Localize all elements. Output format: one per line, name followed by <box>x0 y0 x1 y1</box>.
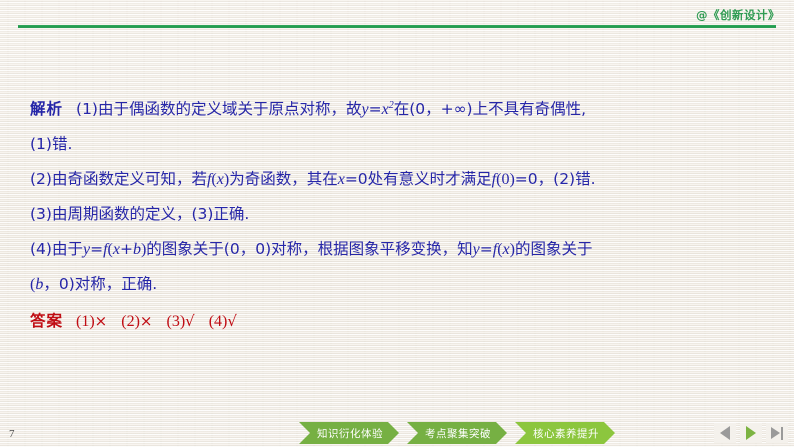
analysis-line-3-text: (2)由奇函数定义可知，若f(x)为奇函数，其在x=0处有意义时才满足f(0)=… <box>30 170 596 188</box>
text-segment: y <box>83 241 90 258</box>
answer-4-mark: √ <box>227 312 237 330</box>
text-segment: 在(0， <box>394 100 441 118</box>
text-segment: (0) <box>496 171 515 188</box>
end-bar-icon <box>781 427 783 440</box>
text-segment: 的图象关于(0，0)对称，根据图象平移变换，知 <box>146 240 472 258</box>
text-segment: =0， <box>515 170 553 188</box>
text-segment: =0处有意义时才满足 <box>345 170 492 188</box>
analysis-line-6-text: (b，0)对称，正确. <box>30 275 157 293</box>
analysis-line-5: (4)由于y=f(x+b)的图象关于(0，0)对称，根据图象平移变换，知y=f(… <box>30 232 770 267</box>
header-divider <box>18 25 776 28</box>
slide-canvas: @《创新设计》 解析(1)由于偶函数的定义域关于原点对称，故y=x2在(0，+∞… <box>0 0 794 447</box>
answer-1: (1)× <box>76 304 107 339</box>
page-number: 7 <box>9 428 15 440</box>
navigation-controls <box>714 423 788 443</box>
answer-block: 答案(1)×(2)×(3)√(4)√ <box>30 304 770 339</box>
answer-1-mark: × <box>95 312 108 330</box>
brand-watermark: @《创新设计》 <box>696 7 780 23</box>
nav-next-button[interactable] <box>740 423 762 443</box>
answer-3-index: (3) <box>166 313 185 330</box>
text-segment: (3)由周期函数的定义，(3)正确. <box>30 205 249 223</box>
banner-keypoints-label: 考点聚集突破 <box>425 426 491 441</box>
text-segment: = <box>90 240 103 258</box>
text-segment: (4)由于 <box>30 240 83 258</box>
nav-last-button[interactable] <box>766 423 788 443</box>
analysis-line-4: (3)由周期函数的定义，(3)正确. <box>30 197 770 232</box>
analysis-line-2-text: (1)错. <box>30 135 72 153</box>
text-segment: ，0) <box>43 275 74 293</box>
text-segment: +∞)上不具有奇偶性, <box>441 100 586 118</box>
text-segment: = <box>369 100 382 118</box>
analysis-line-1-text: (1)由于偶函数的定义域关于原点对称，故y=x2在(0，+∞)上不具有奇偶性, <box>76 100 586 118</box>
text-segment: 的图象关于 <box>515 240 593 258</box>
text-segment: x <box>113 241 120 258</box>
banner-knowledge-label: 知识衍化体验 <box>317 426 383 441</box>
answer-2-mark: × <box>140 312 153 330</box>
text-segment: (1)由于偶函数的定义域关于原点对称，故 <box>76 100 361 118</box>
text-segment: y <box>473 241 480 258</box>
answer-2: (2)× <box>121 304 152 339</box>
answer-3: (3)√ <box>166 304 194 339</box>
analysis-line-4-text: (3)由周期函数的定义，(3)正确. <box>30 205 249 223</box>
banner-literacy[interactable]: 核心素养提升 <box>515 422 615 444</box>
analysis-line-2: (1)错. <box>30 127 770 162</box>
answer-4: (4)√ <box>209 304 237 339</box>
analysis-line-6: (b，0)对称，正确. <box>30 267 770 302</box>
text-segment: 对称，正确. <box>75 275 157 293</box>
text-segment: x <box>338 171 345 188</box>
text-segment: x <box>503 241 510 258</box>
banner-knowledge[interactable]: 知识衍化体验 <box>299 422 399 444</box>
text-segment: (2)由奇函数定义可知，若 <box>30 170 207 188</box>
answer-items: (1)×(2)×(3)√(4)√ <box>76 312 251 330</box>
text-segment: (1)错. <box>30 135 72 153</box>
answer-4-index: (4) <box>209 313 228 330</box>
analysis-line-1: 解析(1)由于偶函数的定义域关于原点对称，故y=x2在(0，+∞)上不具有奇偶性… <box>30 92 770 127</box>
slide-footer: 7 知识衍化体验 考点聚集突破 核心素养提升 <box>0 413 794 447</box>
banner-keypoints[interactable]: 考点聚集突破 <box>407 422 507 444</box>
triangle-right-icon <box>746 426 756 440</box>
answer-label: 答案 <box>30 312 63 330</box>
section-banners: 知识衍化体验 考点聚集突破 核心素养提升 <box>299 422 615 444</box>
nav-previous-button[interactable] <box>714 423 736 443</box>
text-segment: x <box>382 101 389 118</box>
analysis-label: 解析 <box>30 100 63 118</box>
text-segment: b <box>133 241 141 258</box>
answer-3-mark: √ <box>185 312 195 330</box>
text-segment: + <box>120 240 133 258</box>
triangle-left-icon <box>720 426 730 440</box>
text-segment: (2)错. <box>553 170 595 188</box>
text-segment: y <box>361 101 368 118</box>
answer-1-index: (1) <box>76 313 95 330</box>
text-segment: = <box>480 240 493 258</box>
banner-literacy-label: 核心素养提升 <box>533 426 599 441</box>
text-segment: 为奇函数，其在 <box>229 170 338 188</box>
analysis-line-3: (2)由奇函数定义可知，若f(x)为奇函数，其在x=0处有意义时才满足f(0)=… <box>30 162 770 197</box>
answer-2-index: (2) <box>121 313 140 330</box>
triangle-right-bar-icon <box>771 427 780 439</box>
analysis-block: 解析(1)由于偶函数的定义域关于原点对称，故y=x2在(0，+∞)上不具有奇偶性… <box>30 92 770 339</box>
text-segment: x <box>217 171 224 188</box>
slide-header: @《创新设计》 <box>0 0 794 34</box>
analysis-line-5-text: (4)由于y=f(x+b)的图象关于(0，0)对称，根据图象平移变换，知y=f(… <box>30 240 592 258</box>
